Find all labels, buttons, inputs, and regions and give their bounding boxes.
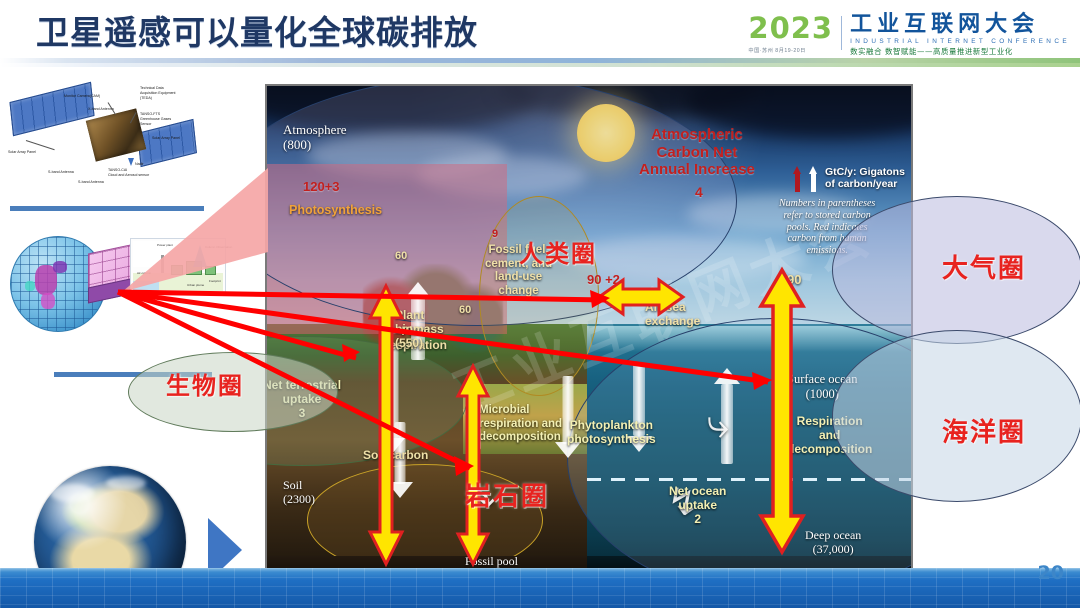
- sat-label-nadir: Nadir: [135, 162, 144, 167]
- conference-logo: 2023 中国·苏州 8月19-20日 工业互联网大会 INDUSTRIAL I…: [748, 14, 1070, 56]
- logo-name-en: INDUSTRIAL INTERNET CONFERENCE: [850, 39, 1070, 45]
- logo-text-block: 工业互联网大会 INDUSTRIAL INTERNET CONFERENCE 数…: [850, 14, 1070, 56]
- slide-root: 卫星遥感可以量化全球碳排放 2023 中国·苏州 8月19-20日 工业互联网大…: [0, 0, 1080, 608]
- sphere-label-anthroposphere: 人类圈: [519, 234, 597, 269]
- big-yellow-arrow-biosphere-vertical: [367, 282, 405, 568]
- sat-label-solar-array-right: Solar Array Panel: [152, 136, 180, 141]
- label-fossil-use-value: 9: [492, 228, 498, 241]
- satellite-body-icon: [86, 108, 147, 161]
- leader-line: [26, 140, 55, 150]
- sat-label-teda: Technical Data Acquisition Equipment (TE…: [140, 86, 176, 101]
- emis-label-urban-plume: Urban plume: [187, 283, 204, 287]
- legend-red-arrow-icon: [793, 166, 802, 192]
- label-photosynthesis-value: 120+3: [303, 179, 340, 194]
- label-microbial-respiration: Microbial respiration and decomposition: [479, 404, 562, 445]
- label-plant-biomass-value: 60: [459, 304, 471, 317]
- global-carbon-cycle-figure: 工业互联网大会 ⤷ ↷ ↯ Atmosphere (800) 120+3 Pho…: [265, 84, 913, 586]
- sat-label-solar-array-left: Solar Array Panel: [8, 150, 36, 155]
- emission-blob: [53, 261, 67, 273]
- cloud: [106, 476, 146, 490]
- diagram-sea: [133, 281, 159, 291]
- diagram-smokestack: [161, 255, 164, 273]
- diagram-building: [205, 266, 216, 275]
- emission-blob: [41, 293, 55, 309]
- big-yellow-arrow-horizontal: [595, 274, 687, 320]
- label-soil: Soil (2300): [283, 478, 315, 506]
- logo-year-block: 2023 中国·苏州 8月19-20日: [748, 14, 833, 54]
- page-title: 卫星遥感可以量化全球碳排放: [36, 6, 478, 54]
- sat-label-s-band-antenna-a: S-band Antenna: [48, 170, 74, 175]
- logo-year: 2023: [748, 14, 833, 43]
- cloud: [50, 484, 94, 502]
- sat-label-monitor-camera: Monitor Camera(CAM): [64, 94, 100, 99]
- ocean-mixing-squiggle-icon: ⤷: [707, 404, 729, 444]
- label-deep-ocean: Deep ocean (37,000): [805, 528, 861, 556]
- emis-label-air-column: Air column: [137, 271, 151, 275]
- sat-label-s-band-antenna-b: S-band Antenna: [78, 180, 104, 185]
- logo-tagline: 数实融合 数智赋能——高质量推进新型工业化: [850, 48, 1070, 55]
- sphere-label-ocean: 海洋圈: [942, 412, 1026, 449]
- label-phytoplankton-photosynthesis: Phytoplankton photosynthesis: [567, 418, 656, 446]
- footer-band: [0, 568, 1080, 608]
- sat-label-tanso-fts: TANSO-FTS Greenhouse Gases Sensor: [140, 112, 171, 127]
- diagram-building: [171, 265, 183, 275]
- legend-white-arrow-icon: [809, 166, 818, 192]
- left-illustration-column: Monitor Camera(CAM) X-band Antenna Techn…: [0, 66, 268, 566]
- label-atmospheric-net-increase: Atmospheric Carbon Net Annual Increase: [639, 126, 755, 179]
- emis-label-column-obs: Column Observation: [205, 245, 232, 249]
- sphere-label-atmosphere: 大气圈: [942, 248, 1026, 285]
- logo-name-cn: 工业互联网大会: [850, 14, 1070, 36]
- emis-label-power-plant: Power plant: [157, 243, 173, 247]
- label-net-ocean-uptake: Net ocean uptake 2: [669, 484, 726, 526]
- emis-label-footprint: Footprint: [209, 279, 221, 283]
- big-yellow-arrow-lithosphere-vertical: [455, 362, 491, 568]
- label-atmospheric-net-increase-value: 4: [695, 184, 703, 201]
- nadir-arrow-icon: [128, 158, 134, 166]
- big-yellow-arrow-ocean-vertical: [757, 266, 807, 556]
- sphere-label-biosphere: 生物圈: [166, 366, 244, 401]
- logo-year-subtitle: 中国·苏州 8月19-20日: [748, 47, 833, 54]
- label-photosynthesis: Photosynthesis: [289, 203, 382, 218]
- page-number: 20: [1038, 562, 1064, 584]
- emission-blob: [25, 281, 35, 291]
- divider-rule-top: [10, 206, 204, 211]
- label-plant-respiration-value: 60: [395, 250, 407, 263]
- satellite-diagram: Monitor Camera(CAM) X-band Antenna Techn…: [4, 74, 230, 192]
- sphere-label-lithosphere: 岩石圈: [465, 476, 549, 513]
- emission-plume-diagram: Power plant Air column Urban plume Colum…: [130, 238, 226, 294]
- sat-label-tanso-cai: TANSO-CAI Cloud and Aerosol sensor: [108, 168, 149, 178]
- label-atmosphere: Atmosphere (800): [283, 122, 347, 153]
- logo-divider: [841, 16, 842, 50]
- solar-array-panel-left-icon: [9, 82, 94, 136]
- legend-units: GtC/y: Gigatons of carbon/year: [825, 166, 905, 191]
